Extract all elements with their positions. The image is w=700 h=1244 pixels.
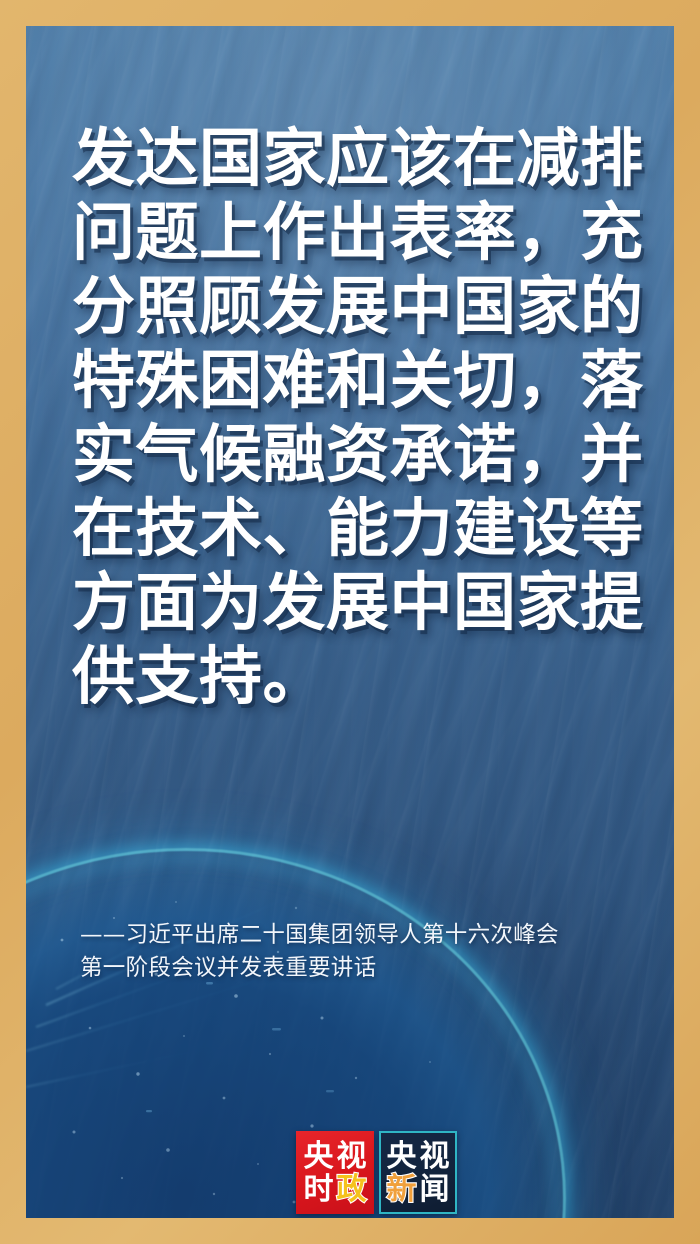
logo-cctv-shizheng[interactable]: 央 视 时 政 (296, 1131, 374, 1214)
logo-char: 闻 (418, 1173, 451, 1206)
logo-char: 央 (385, 1140, 418, 1173)
earth-glow-hotspot (26, 983, 41, 1181)
logo-line-1: 央 视 (302, 1140, 368, 1173)
logo-char-accent: 新 (385, 1173, 418, 1206)
headline-line: 实气候融资承诺，并 (72, 418, 642, 492)
headline-line: 发达国家应该在减排 (72, 122, 642, 196)
logo-cctv-xinwen[interactable]: 央 视 新 闻 (379, 1131, 457, 1214)
logo-char: 视 (335, 1140, 368, 1173)
logo-group: 央 视 时 政 央 视 新 闻 (296, 1131, 457, 1214)
poster-root: 发达国家应该在减排 问题上作出表率，充 分照顾发展中国家的 特殊困难和关切，落 … (0, 0, 700, 1244)
earth-atmosphere-halo (26, 854, 560, 1218)
headline-line: 特殊困难和关切，落 (72, 344, 642, 418)
logo-line-2: 新 闻 (385, 1173, 451, 1206)
logo-char-accent: 政 (335, 1173, 368, 1206)
logo-char: 央 (302, 1140, 335, 1173)
logo-line-1: 央 视 (385, 1140, 451, 1173)
attribution-line: ——习近平出席二十国集团领导人第十六次峰会 (80, 919, 660, 952)
light-ray (26, 1044, 222, 1088)
headline-line: 方面为发展中国家提 (72, 566, 642, 640)
headline-line: 分照顾发展中国家的 (72, 270, 642, 344)
logo-line-2: 时 政 (302, 1173, 368, 1206)
headline-line: 在技术、能力建设等 (72, 492, 642, 566)
attribution-source: ——习近平出席二十国集团领导人第十六次峰会 第一阶段会议并发表重要讲话 (80, 919, 660, 985)
headline-line: 问题上作出表率，充 (72, 196, 642, 270)
headline-quote: 发达国家应该在减排 问题上作出表率，充 分照顾发展中国家的 特殊困难和关切，落 … (72, 122, 642, 714)
logo-char: 视 (418, 1140, 451, 1173)
headline-line: 供支持。 (72, 640, 642, 714)
poster-canvas: 发达国家应该在减排 问题上作出表率，充 分照顾发展中国家的 特殊困难和关切，落 … (26, 26, 674, 1218)
attribution-line: 第一阶段会议并发表重要讲话 (80, 952, 660, 985)
logo-char: 时 (302, 1173, 335, 1206)
